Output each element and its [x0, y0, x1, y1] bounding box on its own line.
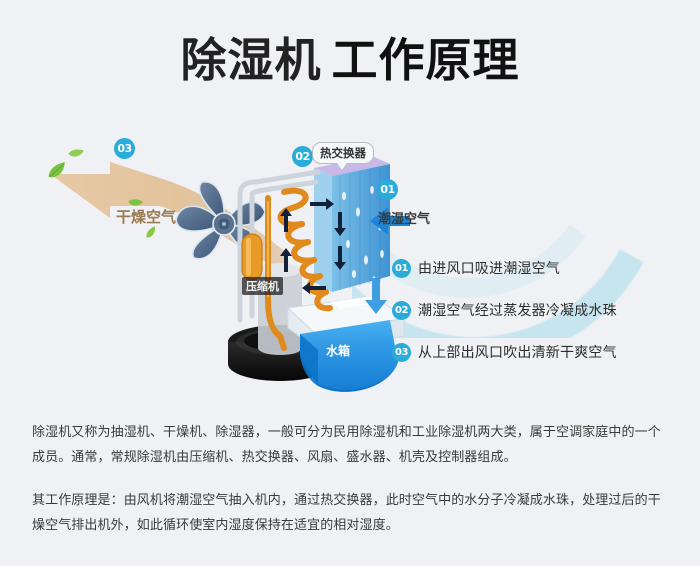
- badge-03-dry-air: 03: [114, 138, 135, 159]
- description-paragraph-1: 除湿机又称为抽湿机、干燥机、除湿器，一般可分为民用除湿机和工业除湿机两大类，属于…: [32, 420, 672, 470]
- legend-badge-01: 01: [392, 259, 411, 278]
- title-part-1: 除湿机: [181, 33, 322, 87]
- description-block: 除湿机又称为抽湿机、干燥机、除湿器，一般可分为民用除湿机和工业除湿机两大类，属于…: [32, 420, 672, 538]
- infographic-page: 除湿机工作原理: [0, 0, 700, 566]
- label-dry-air: 干燥空气: [116, 206, 176, 227]
- legend-item-02: 02 潮湿空气经过蒸发器冷凝成水珠: [392, 300, 692, 320]
- legend-text-01: 由进风口吸进潮湿空气: [418, 258, 560, 278]
- legend-badge-03: 03: [392, 343, 411, 362]
- description-paragraph-2: 其工作原理是：由风机将潮湿空气抽入机内，通过热交换器，此时空气中的水分子冷凝成水…: [32, 488, 672, 538]
- legend-item-03: 03 从上部出风口吹出清新干爽空气: [392, 342, 692, 362]
- label-humid-air: 潮湿空气: [378, 208, 430, 227]
- label-water-tank: 水箱: [326, 342, 350, 359]
- legend-list: 01 由进风口吸进潮湿空气 02 潮湿空气经过蒸发器冷凝成水珠 03 从上部出风…: [392, 258, 692, 384]
- label-compressor: 压缩机: [242, 277, 283, 295]
- callout-heat-exchanger: 热交换器: [312, 142, 374, 164]
- badge-01-humid-air: 01: [377, 179, 398, 200]
- legend-item-01: 01 由进风口吸进潮湿空气: [392, 258, 692, 278]
- legend-text-02: 潮湿空气经过蒸发器冷凝成水珠: [418, 300, 617, 320]
- legend-badge-02: 02: [392, 301, 411, 320]
- title-part-2: 工作原理: [332, 33, 520, 87]
- legend-text-03: 从上部出风口吹出清新干爽空气: [418, 342, 617, 362]
- page-title: 除湿机工作原理: [0, 32, 700, 88]
- badge-02-heat-exchanger: 02: [292, 146, 313, 167]
